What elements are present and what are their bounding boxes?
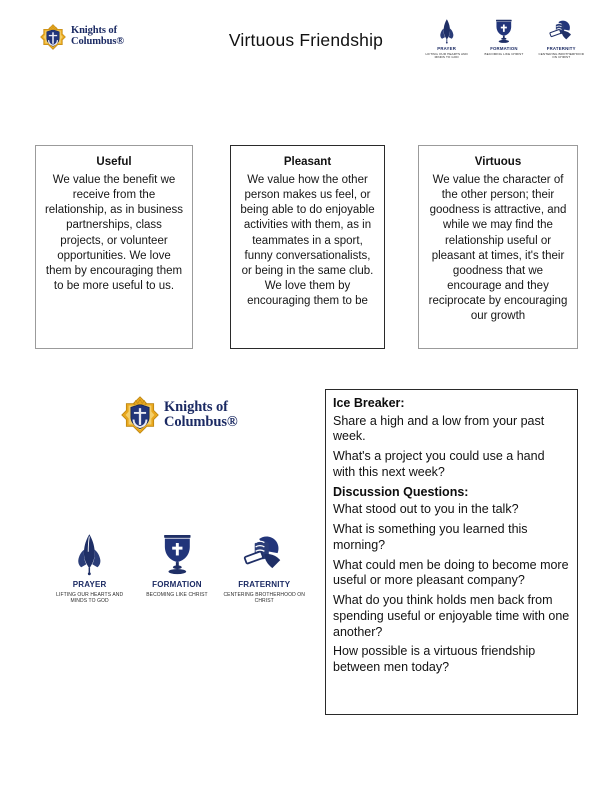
body-logo-line-1: Knights of <box>164 400 238 415</box>
list-item: What is something you learned this morni… <box>333 522 570 554</box>
page-header: Knights of Columbus® Virtuous Friendship… <box>0 0 612 80</box>
concept-box-virtuous: Virtuous We value the character of the o… <box>418 145 578 349</box>
concept-title-pleasant: Pleasant <box>239 155 376 170</box>
list-item: Share a high and a low from your past we… <box>333 414 570 446</box>
concept-body-pleasant: We value how the other person makes us f… <box>239 173 376 310</box>
pillar-formation: FORMATION BECOMING LIKE CHRIST <box>133 532 220 598</box>
body-logo-wordmark: Knights of Columbus® <box>164 400 238 430</box>
body-logo-line-2: Columbus® <box>164 415 238 430</box>
handshake-icon <box>238 532 291 576</box>
pillar-formation-label: FORMATION <box>152 580 202 589</box>
header-pillar-icons: PRAYER LIFTING OUR HEARTS AND MINDS TO G… <box>418 18 590 60</box>
pillar-fraternity-label: FRATERNITY <box>238 580 290 589</box>
chalice-icon <box>493 18 515 44</box>
list-item: How possible is a virtuous friendship be… <box>333 644 570 676</box>
concept-title-useful: Useful <box>44 155 184 170</box>
concept-box-pleasant: Pleasant We value how the other person m… <box>230 145 385 349</box>
chalice-icon <box>159 532 196 576</box>
discussion-questions-heading: Discussion Questions: <box>333 485 570 501</box>
bottom-pillar-icons: PRAYER LIFTING OUR HEARTS AND MINDS TO G… <box>46 532 308 605</box>
pillar-formation: FORMATION BECOMING LIKE CHRIST <box>475 18 532 56</box>
discussion-box: Ice Breaker: Share a high and a low from… <box>325 389 578 715</box>
list-item: What's a project you could use a hand wi… <box>333 449 570 481</box>
concept-body-useful: We value the benefit we receive from the… <box>44 173 184 294</box>
pillar-prayer-tagline: LIFTING OUR HEARTS AND MINDS TO GOD <box>48 592 132 605</box>
pillar-formation-tagline: BECOMING LIKE CHRIST <box>479 53 529 57</box>
pillar-formation-tagline: BECOMING LIKE CHRIST <box>135 592 219 598</box>
praying-hands-icon <box>71 532 108 576</box>
discussion-questions-list: What stood out to you in the talk? What … <box>333 502 570 676</box>
pillar-fraternity-tagline: CENTERING BROTHERHOOD ON CHRIST <box>222 592 306 605</box>
concept-title-virtuous: Virtuous <box>427 155 569 170</box>
praying-hands-icon <box>436 18 458 44</box>
body-knights-of-columbus-logo: Knights of Columbus® <box>121 396 238 434</box>
concept-box-useful: Useful We value the benefit we receive f… <box>35 145 193 349</box>
handshake-icon <box>546 18 577 44</box>
pillar-prayer: PRAYER LIFTING OUR HEARTS AND MINDS TO G… <box>418 18 475 60</box>
pillar-fraternity-tagline: CENTERING BROTHERHOOD ON CHRIST <box>536 53 586 61</box>
pillar-prayer-tagline: LIFTING OUR HEARTS AND MINDS TO GOD <box>422 53 472 61</box>
pillar-prayer-label: PRAYER <box>437 46 456 51</box>
list-item: What could men be doing to become more u… <box>333 558 570 590</box>
concept-body-virtuous: We value the character of the other pers… <box>427 173 569 325</box>
pillar-fraternity: FRATERNITY CENTERING BROTHERHOOD ON CHRI… <box>221 532 308 605</box>
pillar-formation-label: FORMATION <box>490 46 518 51</box>
pillar-prayer: PRAYER LIFTING OUR HEARTS AND MINDS TO G… <box>46 532 133 605</box>
pillar-fraternity-label: FRATERNITY <box>547 46 576 51</box>
knights-of-columbus-emblem-icon <box>121 396 159 434</box>
ice-breaker-heading: Ice Breaker: <box>333 396 570 412</box>
ice-breaker-list: Share a high and a low from your past we… <box>333 414 570 481</box>
pillar-prayer-label: PRAYER <box>73 580 107 589</box>
pillar-fraternity: FRATERNITY CENTERING BROTHERHOOD ON CHRI… <box>533 18 590 60</box>
list-item: What do you think holds men back from sp… <box>333 593 570 640</box>
list-item: What stood out to you in the talk? <box>333 502 570 518</box>
